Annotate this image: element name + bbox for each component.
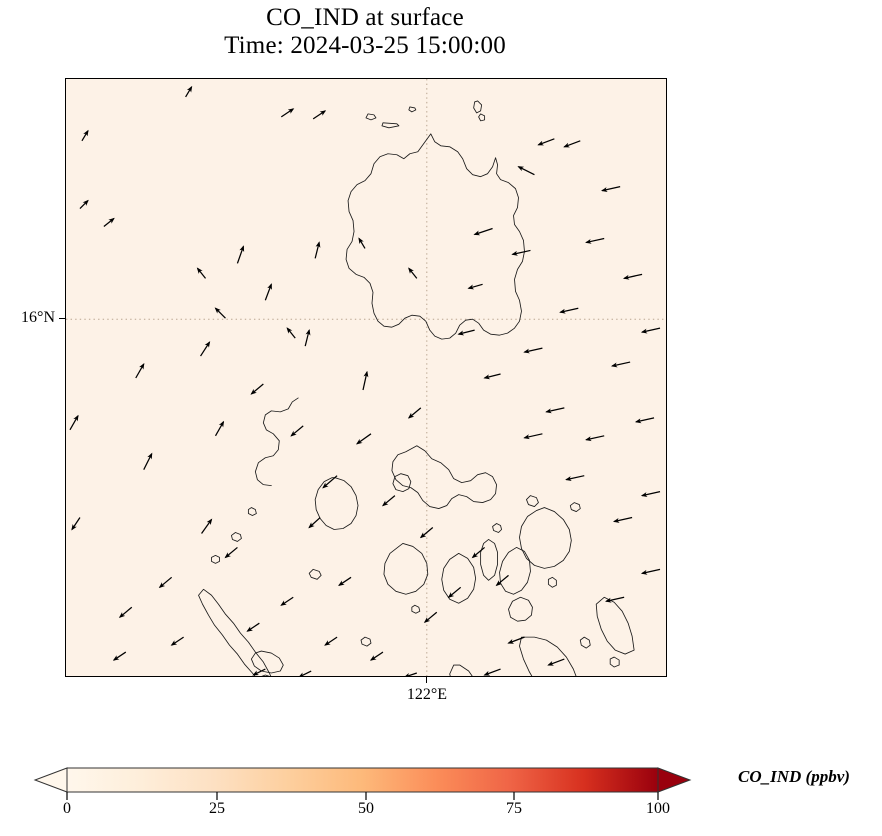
coastline-islet [361,637,371,646]
colorbar-extend-max [658,768,690,792]
tick-mark-lat-16n [59,318,65,319]
coastline-luzon [346,134,524,339]
coastline-islet [382,123,399,128]
coastline-luzon-west [255,398,298,486]
colorbar-tick-label-100: 100 [628,800,688,818]
coastline-islet [474,101,482,113]
coastline-palawan [199,589,275,676]
map-canvas [66,79,666,676]
coastline-leyte [500,547,531,594]
figure-subtitle-time: Time: 2024-03-25 15:00:00 [0,32,730,60]
colorbar-tick-label-0: 0 [37,800,97,818]
coastline-islet [412,605,420,613]
coastline-samar [519,508,571,569]
coastline-mindanao [519,637,584,676]
colorbar-ticks [67,792,658,800]
coastline-islet [212,555,220,563]
coastline-mindoro [315,478,358,530]
colorbar-canvas[interactable] [20,758,710,802]
coastline-islet [366,114,376,120]
coastline-islet [548,577,556,587]
coastline-bohol [509,597,533,621]
coastline-islet [570,503,580,512]
coastline-panay [384,543,428,594]
colorbar-tick-label-75: 75 [484,800,544,818]
coastline-negros [442,553,476,603]
coastline-islet [610,657,619,667]
axis-label-lon-122e: 122°E [367,686,487,704]
coastline-islet [580,637,590,648]
colorbar-extend-min [35,768,67,792]
coastline-islet [409,107,416,112]
figure-title-block: CO_IND at surface Time: 2024-03-25 15:00… [0,4,730,60]
colorbar-label: CO_IND (ppbv) [738,767,850,787]
colorbar-tick-label-50: 50 [336,800,396,818]
coastline-bicol [392,446,497,509]
axis-label-lat-16n: 16°N [21,309,55,327]
coastline-islet [493,524,502,533]
tick-mark-lon-122e [426,677,427,683]
coastline-islet [479,114,485,121]
wind-vectors [70,87,660,676]
page-title: CO_IND at surface [0,4,730,32]
coastline-calamian-2 [255,675,279,676]
map-panel[interactable] [65,78,667,677]
coastlines [199,101,635,676]
coastline-marinduque [393,474,411,492]
coastline-islet [231,532,241,541]
colorbar-tick-label-25: 25 [187,800,247,818]
colorbar-gradient-bar [67,768,658,792]
coastline-islet [526,496,538,507]
coastline-islet [309,569,321,579]
coastline-cebu [481,539,498,580]
coastline-islet [248,508,256,516]
coastline-mindanao-east [596,597,634,654]
coastline-mindanao-west [450,665,490,676]
